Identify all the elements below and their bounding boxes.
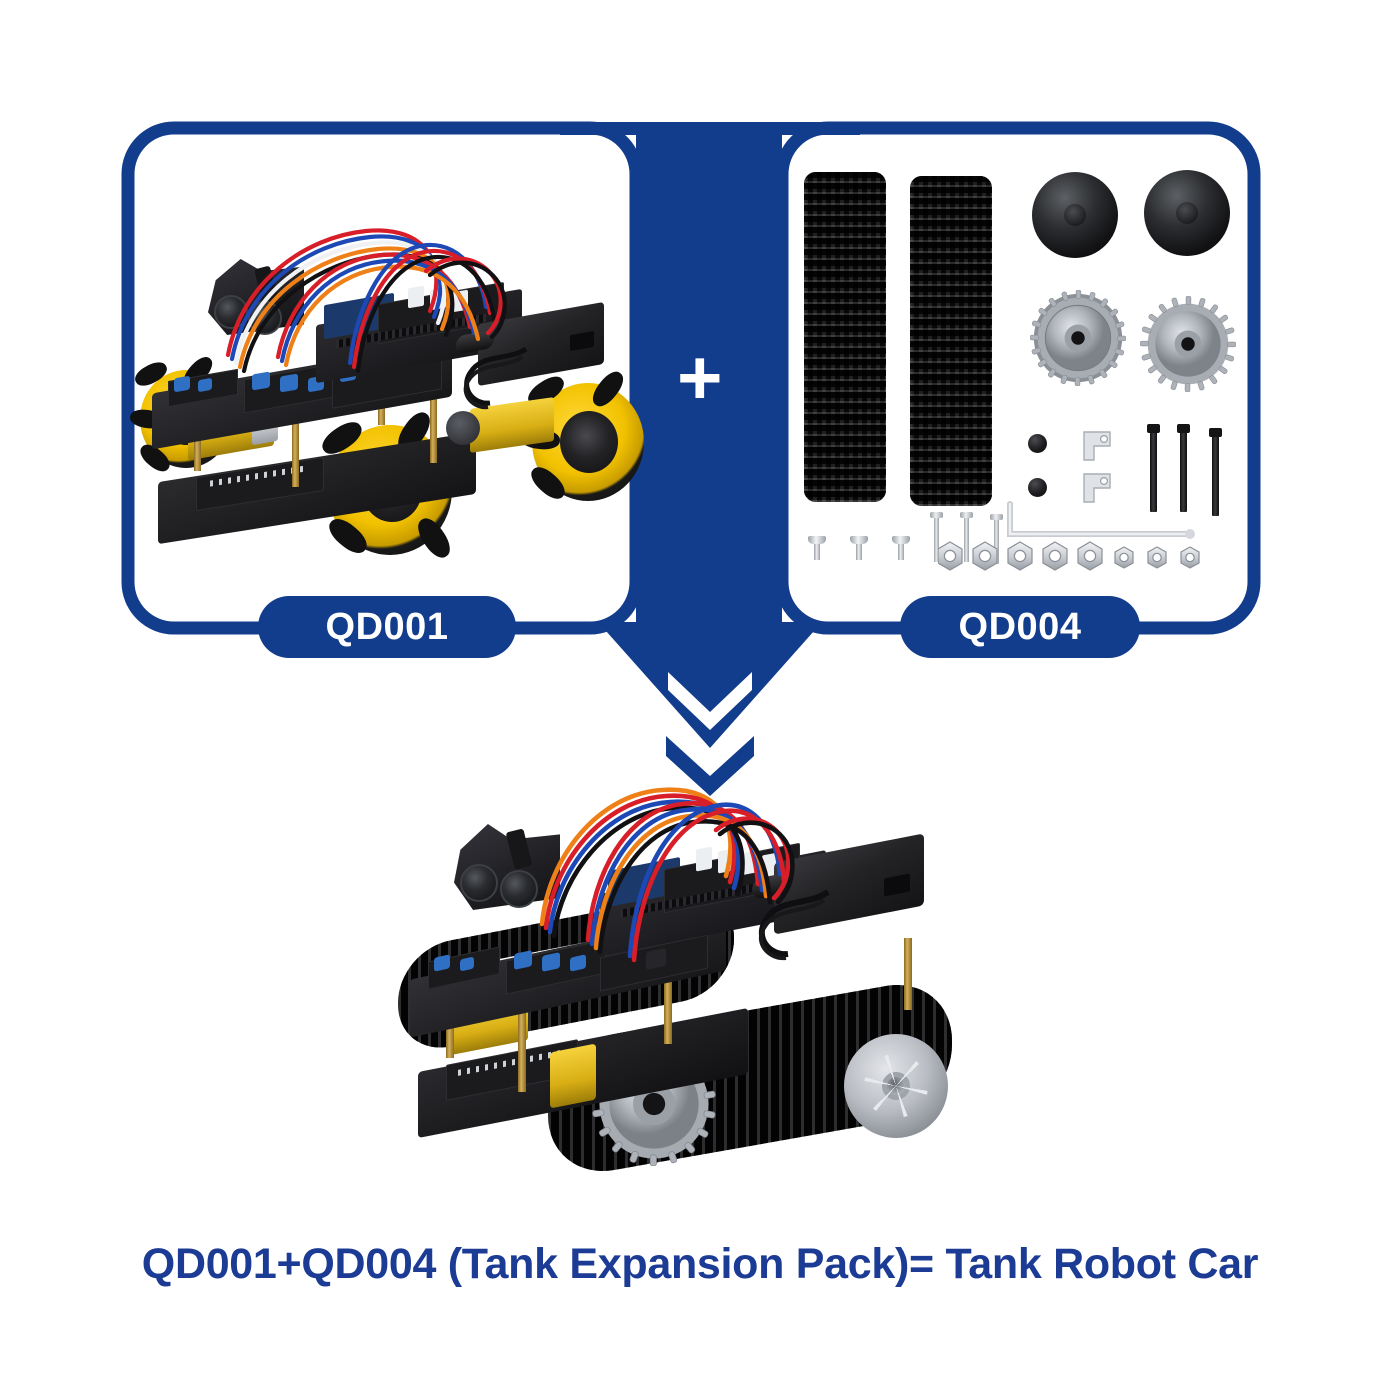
jumper-wire-harness [180, 215, 540, 405]
grub-screw-1 [1028, 434, 1047, 453]
hex-nut [1181, 547, 1199, 568]
hex-nut [973, 542, 997, 570]
metal-bracket-1 [1080, 430, 1116, 462]
hex-nut [1008, 542, 1032, 570]
sprocket-gear-2-teeth [1140, 296, 1236, 392]
hex-nut-row [938, 540, 1238, 572]
infographic-root: + [0, 0, 1400, 1400]
result-jumper-wire-harness [470, 780, 830, 980]
hex-nut [1043, 542, 1067, 570]
plus-operator-icon: + [677, 338, 723, 416]
long-bolt-3 [1212, 430, 1219, 516]
top-bridge-bar [560, 122, 860, 135]
flat-head-screw-1-head [808, 536, 826, 544]
hex-nut [938, 542, 962, 570]
badge-qd001-label: QD001 [326, 606, 449, 649]
result-caption: QD001+QD004 (Tank Expansion Pack)= Tank … [0, 1240, 1400, 1289]
wheel-hub-rear-right [560, 411, 618, 473]
product-photo-qd001 [140, 215, 640, 585]
grub-screw-2 [1028, 478, 1047, 497]
badge-qd004[interactable]: QD004 [900, 596, 1140, 658]
long-screw-3-head [990, 514, 1003, 520]
long-screw-2-head [960, 512, 973, 518]
standoff-post [904, 938, 912, 1010]
long-bolt-3-head [1209, 428, 1222, 437]
long-screw-1-head [930, 512, 943, 518]
hex-nut [1115, 547, 1133, 568]
result-rear-wheel-bolt-circle [864, 1054, 928, 1118]
hex-nut [1078, 542, 1102, 570]
sprocket-gear-1-teeth [1030, 290, 1126, 386]
product-photo-qd004 [792, 162, 1244, 582]
long-bolt-1-head [1147, 424, 1160, 433]
long-bolt-2-head [1177, 424, 1190, 433]
badge-qd004-label: QD004 [959, 606, 1082, 649]
wheel-hub-2-center [1176, 202, 1198, 224]
hex-nut [1148, 547, 1166, 568]
rubber-track-1-lugs [804, 172, 886, 502]
product-photo-result-tank-robot [370, 790, 1010, 1210]
rubber-track-2-lugs [910, 176, 992, 506]
flat-head-screw-2-head [850, 536, 868, 544]
badge-qd001[interactable]: QD001 [258, 596, 516, 658]
wheel-hub-1-center [1064, 204, 1086, 226]
result-dc-motor-2 [550, 1044, 596, 1109]
flat-head-screw-3-head [892, 536, 910, 544]
